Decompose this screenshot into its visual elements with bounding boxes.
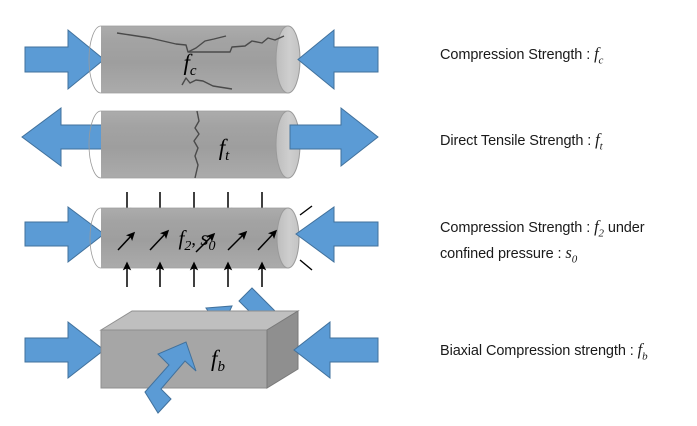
biaxial-prism <box>101 311 298 388</box>
compression-cylinder <box>89 26 300 93</box>
caption-confined-line2: confined pressure : s0 <box>440 246 577 262</box>
caption-compression: Compression Strength : fc <box>440 44 603 70</box>
cylinder-body <box>101 111 288 178</box>
caption-compression-text: Compression Strength : <box>440 47 594 63</box>
tensile-cylinder <box>89 111 300 178</box>
caption-biaxial-symbol: fb <box>638 340 648 359</box>
cylinder-right-cap <box>276 26 300 93</box>
prism-top-face <box>101 311 298 330</box>
caption-biaxial-compression: Biaxial Compression strength : fb <box>440 340 647 366</box>
caption-confined-compression: Compression Strength : f2 underconfined … <box>440 217 644 270</box>
caption-confined-symbol-f2: f2 <box>594 217 604 236</box>
caption-direct-tensile-symbol: ft <box>595 130 602 149</box>
caption-direct-tensile-text: Direct Tensile Strength : <box>440 133 595 149</box>
caption-biaxial-text: Biaxial Compression strength : <box>440 343 638 359</box>
caption-confined-line1: Compression Strength : f2 under <box>440 220 644 236</box>
caption-compression-symbol: fc <box>594 44 603 63</box>
caption-direct-tensile: Direct Tensile Strength : ft <box>440 130 603 156</box>
cylinder-body <box>101 26 288 93</box>
cylinder-right-cap <box>277 208 299 268</box>
caption-confined-symbol-s0: s0 <box>565 243 577 262</box>
